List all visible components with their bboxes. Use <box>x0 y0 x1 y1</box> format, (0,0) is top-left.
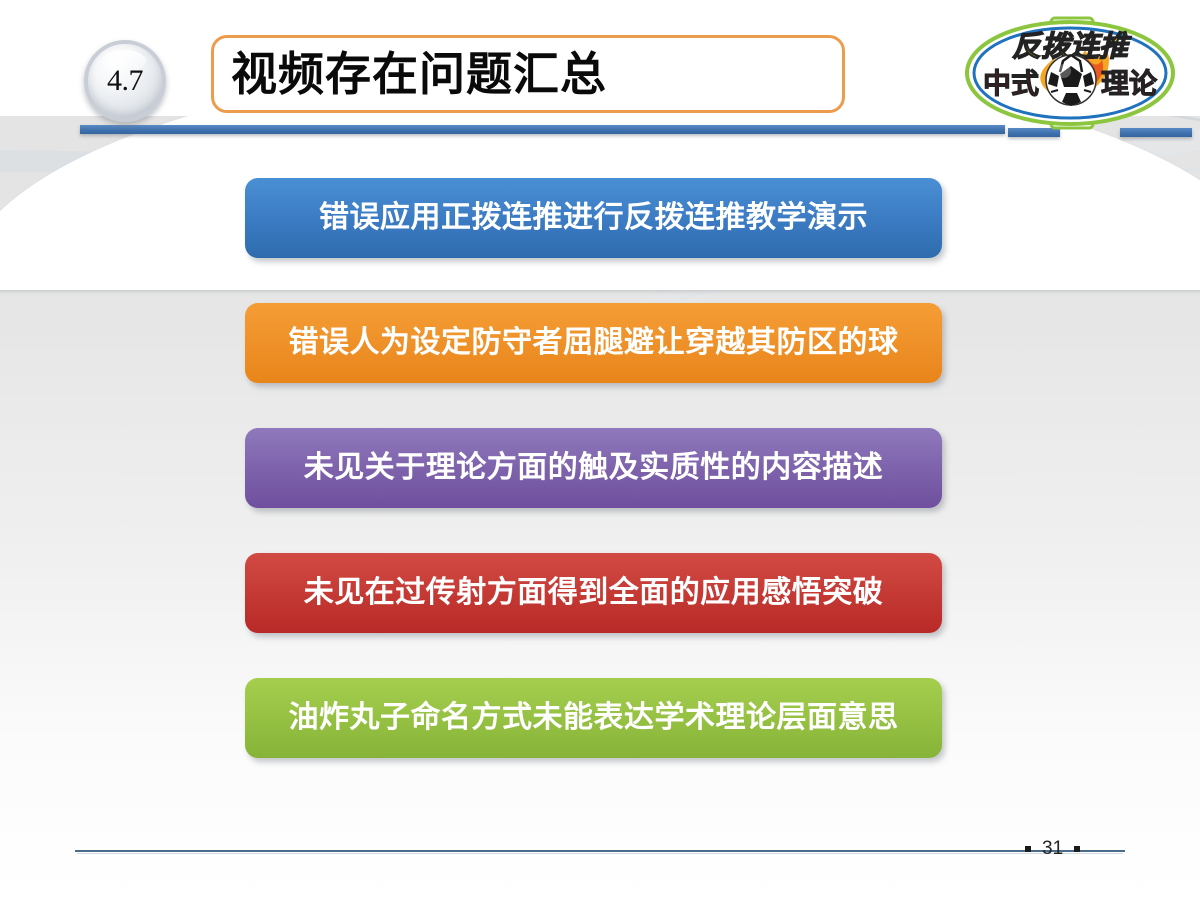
page-number: 31 <box>1042 838 1063 860</box>
bullet-square-right-icon <box>1074 846 1080 852</box>
problem-item-label: 油炸丸子命名方式未能表达学术理论层面意思 <box>245 703 942 733</box>
page-number-group: 31 <box>1025 838 1080 860</box>
slide-canvas: 4.7 视频存在问题汇总 反拨连推 中式 理论 <box>0 0 1200 900</box>
problem-item-label: 错误人为设定防守者屈腿避让穿越其防区的球 <box>245 328 942 358</box>
soccer-ball-icon <box>1046 55 1096 106</box>
section-number-label: 4.7 <box>107 64 143 98</box>
problem-item-3[interactable]: 未见关于理论方面的触及实质性的内容描述 <box>245 428 942 508</box>
footer-divider <box>75 850 1125 852</box>
problem-item-label: 未见关于理论方面的触及实质性的内容描述 <box>245 453 942 483</box>
problem-list: 错误应用正拨连推进行反拨连推教学演示 错误人为设定防守者屈腿避让穿越其防区的球 … <box>245 178 942 803</box>
problem-item-2[interactable]: 错误人为设定防守者屈腿避让穿越其防区的球 <box>245 303 942 383</box>
problem-item-4[interactable]: 未见在过传射方面得到全面的应用感悟突破 <box>245 553 942 633</box>
header-divider-bar <box>80 125 1005 134</box>
problem-item-1[interactable]: 错误应用正拨连推进行反拨连推教学演示 <box>245 178 942 258</box>
problem-item-label: 未见在过传射方面得到全面的应用感悟突破 <box>245 578 942 608</box>
problem-item-5[interactable]: 油炸丸子命名方式未能表达学术理论层面意思 <box>245 678 942 758</box>
logo-left-text: 中式 <box>983 67 1039 100</box>
problem-item-label: 错误应用正拨连推进行反拨连推教学演示 <box>245 203 942 233</box>
slide-title-box: 视频存在问题汇总 <box>211 35 845 113</box>
bullet-square-left-icon <box>1025 846 1031 852</box>
brand-logo: 反拨连推 中式 理论 <box>963 14 1178 132</box>
page-title: 视频存在问题汇总 <box>214 51 607 97</box>
section-number-badge: 4.7 <box>84 40 166 122</box>
logo-right-text: 理论 <box>1101 67 1158 100</box>
